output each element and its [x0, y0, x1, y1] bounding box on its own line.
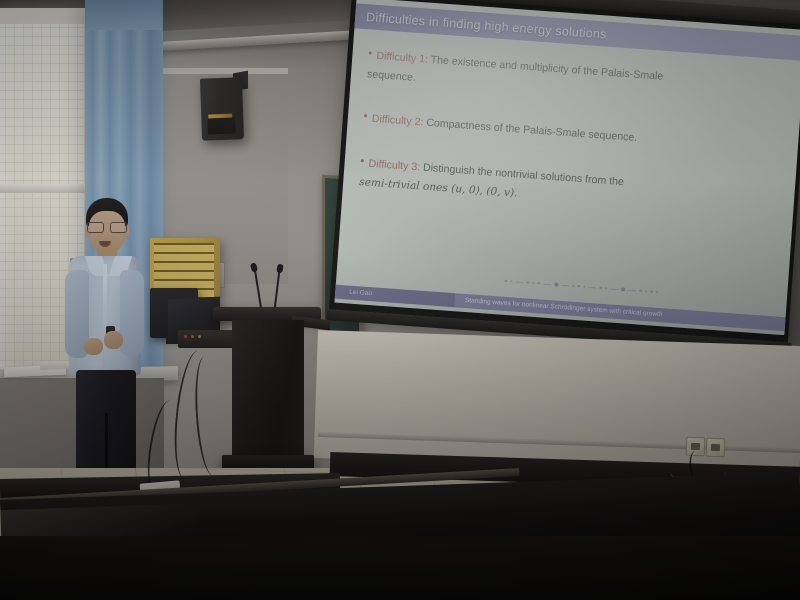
led-indicator: [191, 335, 194, 338]
speaker-badge: [208, 114, 232, 119]
slide-body: Difficulty 1: The existence and multipli…: [341, 41, 800, 243]
presenter-hand-left: [84, 338, 103, 355]
bullet-3-label: Difficulty 3:: [368, 157, 420, 173]
wall-speaker-icon: [200, 77, 244, 140]
projection-screen: Difficulties in finding high energy solu…: [327, 0, 800, 375]
presenter-arm-right: [120, 270, 144, 356]
bullet-2-label: Difficulty 2:: [371, 112, 423, 128]
curtain-header: [85, 0, 163, 30]
window-mullion: [0, 184, 86, 193]
bullet-1-label: Difficulty 1:: [376, 50, 428, 66]
bullet-2-text: Compactness of the Palais-Smale sequence…: [423, 116, 638, 143]
podium-body: [232, 320, 304, 460]
led-indicator: [184, 335, 187, 338]
glasses-icon: [87, 222, 127, 231]
lecture-hall-photo: Difficulties in finding high energy solu…: [0, 0, 800, 600]
slide-title: Difficulties in finding high energy solu…: [355, 9, 607, 41]
wall-lower-band: [314, 330, 800, 474]
stage-front-face: [0, 536, 800, 600]
shirt-placket: [103, 264, 107, 374]
bullet-dot-icon: [364, 114, 367, 117]
bullet-dot-icon: [361, 159, 364, 162]
screen-frame: Difficulties in finding high energy solu…: [329, 0, 800, 342]
slide-footer-author: Lei Gao: [335, 285, 456, 308]
slide-surface: Difficulties in finding high energy solu…: [334, 0, 800, 335]
presenter-hand-right: [104, 331, 123, 349]
bullet-dot-icon: [369, 52, 372, 55]
bullet-item-2: Difficulty 2: Compactness of the Palais-…: [363, 105, 781, 158]
bullet-item-3: Difficulty 3: Distinguish the nontrivial…: [359, 150, 778, 221]
led-indicator: [198, 335, 201, 338]
